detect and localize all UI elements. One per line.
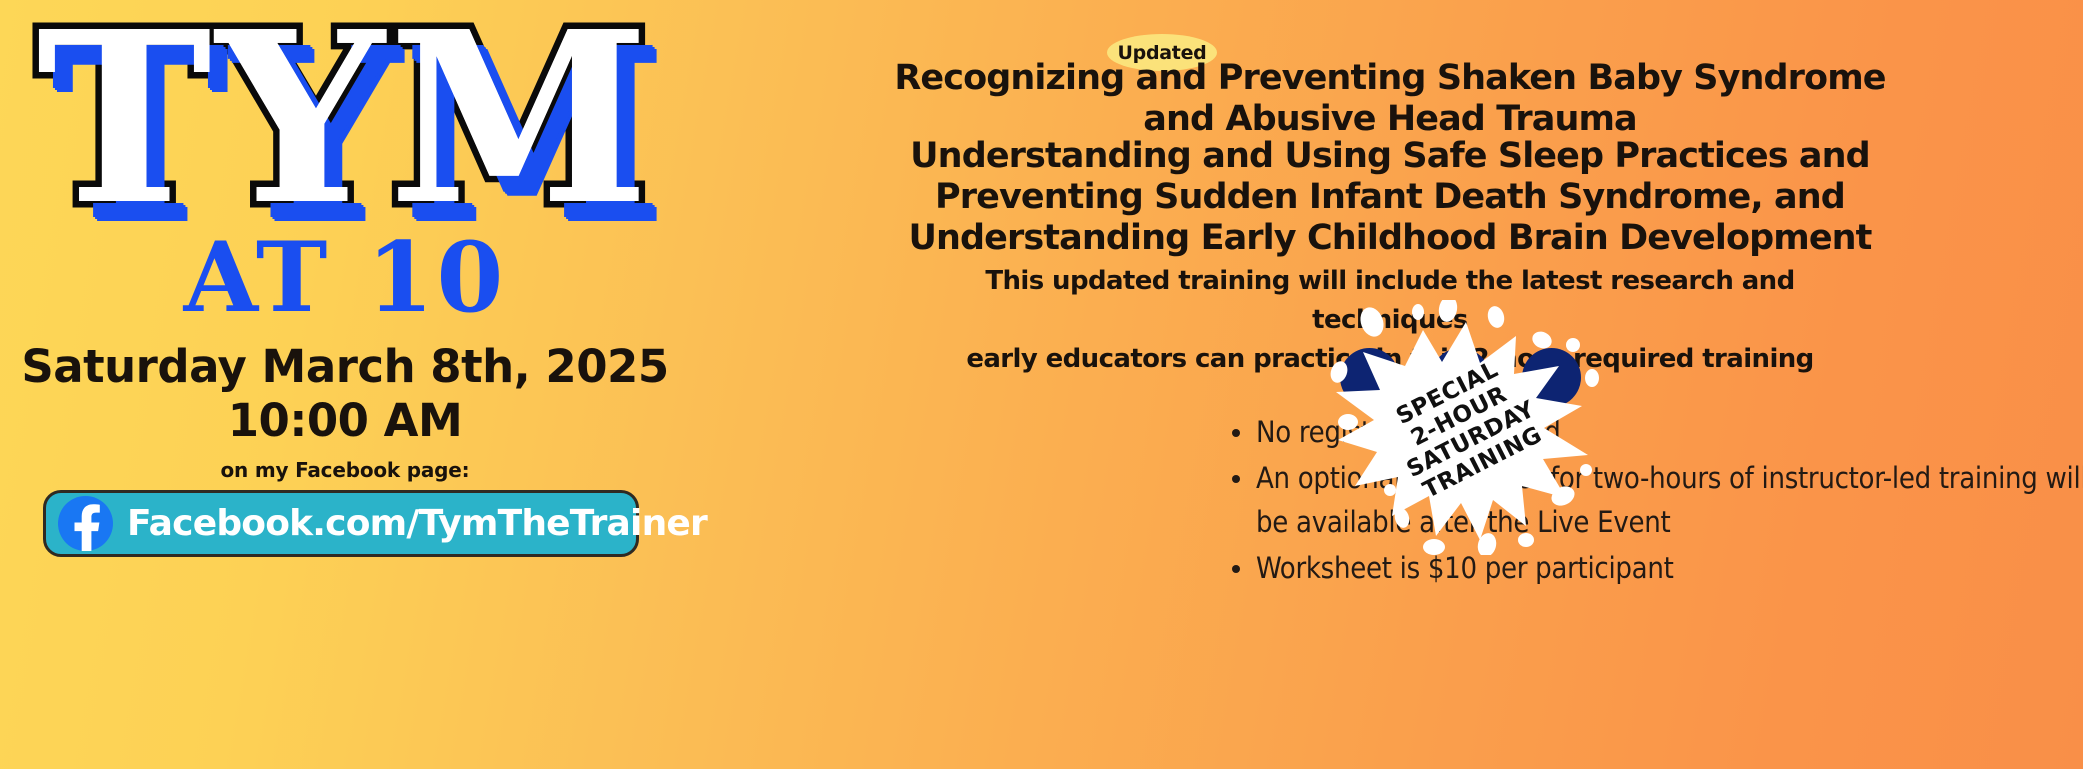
logo-subtitle: AT 10 xyxy=(0,228,690,328)
headline-secondary-line: Understanding and Using Safe Sleep Pract… xyxy=(710,136,2070,177)
headline-secondary-line: Understanding Early Childhood Brain Deve… xyxy=(710,218,2070,259)
facebook-f-icon xyxy=(58,496,113,551)
logo-brand-fill: TYM xyxy=(0,2,690,234)
headline-primary-line: Recognizing and Preventing Shaken Baby S… xyxy=(710,58,2070,99)
event-date: Saturday March 8th, 2025 xyxy=(0,340,690,394)
headline-secondary-line: Preventing Sudden Infant Death Syndrome,… xyxy=(710,177,2070,218)
special-training-splat: SPECIAL 2-HOUR SATURDAY TRAINING xyxy=(1330,300,1600,555)
tym-logo: TYM TYM AT 10 xyxy=(0,0,690,340)
promotional-banner: TYM TYM AT 10 Saturday March 8th, 2025 1… xyxy=(0,0,2083,769)
headline-primary-line: and Abusive Head Trauma xyxy=(710,99,2070,140)
headline-primary: Recognizing and Preventing Shaken Baby S… xyxy=(710,58,2070,140)
splat-text-block: SPECIAL 2-HOUR SATURDAY TRAINING xyxy=(1330,300,1600,555)
facebook-prefix-label: on my Facebook page: xyxy=(0,458,690,482)
right-column: Updated Recognizing and Preventing Shake… xyxy=(690,0,2083,769)
facebook-url-text: Facebook.com/TymTheTrainer xyxy=(127,503,707,544)
event-time: 10:00 AM xyxy=(0,394,690,448)
left-column: TYM TYM AT 10 Saturday March 8th, 2025 1… xyxy=(0,0,690,769)
facebook-link-bar[interactable]: Facebook.com/TymTheTrainer xyxy=(43,490,639,557)
headline-secondary: Understanding and Using Safe Sleep Pract… xyxy=(710,136,2070,259)
